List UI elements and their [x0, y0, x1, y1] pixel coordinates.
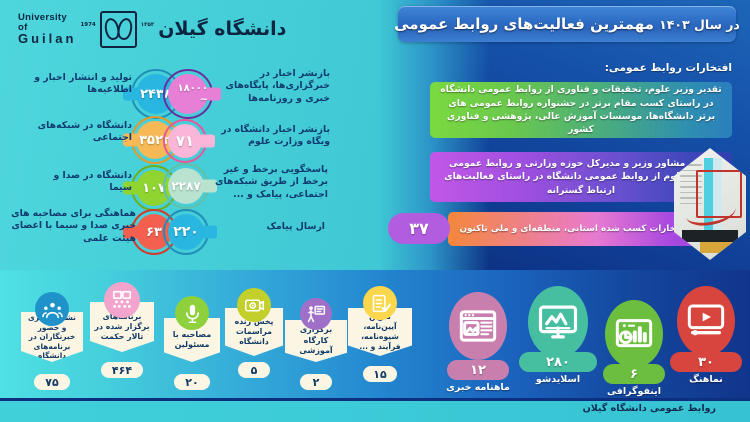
- stat-label: هماهنگی برای مصاحبه های خبری صدا و سیما …: [0, 208, 136, 245]
- page-title-bar: در سال ۱۴۰۳ مهمترین فعالیت‌های روابط عمو…: [398, 6, 736, 42]
- bottom-card-value: ۷۵: [34, 374, 70, 390]
- achievement-bar-1: تقدیر وزیر علوم، تحقیقات و فناوری از روا…: [430, 82, 732, 138]
- bottom-card-label: نماهنگ: [689, 374, 723, 385]
- trophy-base: [682, 230, 738, 242]
- bottom-card-icon-circle: [300, 298, 332, 330]
- logo-year-gregorian: 1974: [80, 22, 95, 28]
- bottom-card-value: ۶: [603, 364, 665, 384]
- bottom-card-value: ۲۰: [174, 374, 210, 390]
- bottom-card-label: ماهنامه خبری: [446, 382, 510, 393]
- stat-value: ۶۳: [146, 225, 162, 240]
- bottom-card-value: ۳۰: [670, 352, 742, 372]
- bottom-card-value: ۲۸۰: [519, 352, 597, 372]
- stat-label: پاسخگویی برخط و غیر برخط از طریق شبکه‌ها…: [202, 164, 328, 201]
- stat-label: تولید و انتشار اخبار و اطلاعیه‌ها: [14, 72, 132, 97]
- bottom-card-value: ۵: [238, 362, 270, 378]
- stat-label: ارسال پیامک: [205, 221, 325, 233]
- bottom-card-icon-circle: [237, 288, 271, 322]
- bottom-card-icon-ellipse: [449, 292, 507, 360]
- microphone-icon: [182, 303, 203, 324]
- bottom-card-value: ۴۶۴: [101, 362, 143, 378]
- infographic-canvas: University of Guilan 1974 ۱۳۵۲ دانشگاه گ…: [0, 0, 750, 422]
- bottom-card-icon-ellipse: [677, 286, 735, 356]
- bottom-card-label: اسلایدشو: [536, 374, 580, 385]
- bottom-card-icon-ellipse: [528, 286, 588, 358]
- university-logo: University of Guilan 1974 ۱۳۵۲ دانشگاه گ…: [18, 8, 208, 50]
- infographic-icon: [614, 314, 654, 354]
- press-conference-icon: [42, 299, 63, 320]
- bottom-card-value: ۱۵: [363, 366, 397, 382]
- logo-persian-text: دانشگاه گیلان: [158, 18, 286, 40]
- achievement-text-1: تقدیر وزیر علوم، تحقیقات و فناوری از روا…: [439, 83, 723, 136]
- logo-english-text: University of Guilan: [18, 13, 76, 45]
- video-play-icon: [686, 301, 726, 341]
- bottom-card-value: ۱۲: [447, 360, 509, 380]
- newsletter-icon: [458, 306, 498, 346]
- stat-value: ۷۱: [176, 132, 194, 150]
- bottom-card-icon-circle: [35, 292, 69, 326]
- stat-label: بازنشر اخبار دانشگاه در وبگاه وزارت علوم: [200, 124, 330, 149]
- logo-year-persian: ۱۳۵۲: [141, 22, 154, 28]
- stat-value: ۲۲۰: [173, 224, 199, 240]
- live-camera-icon: [244, 295, 265, 316]
- stat-badge[interactable]: ۲۲۰: [168, 214, 204, 250]
- stat-label: دانشگاه در صدا و سیما: [32, 170, 132, 195]
- auditorium-icon: [111, 289, 133, 311]
- stat-value: ۲۲۸۷: [171, 179, 200, 193]
- stat-badge[interactable]: ۲۲۸۷: [168, 168, 204, 204]
- achievements-heading: افتخارات روابط عمومی:: [605, 62, 732, 74]
- logo-line-university: University of: [18, 13, 76, 32]
- page-title-year: در سال ۱۴۰۳: [659, 17, 740, 32]
- achievement-summary-value: ۳۷: [388, 213, 450, 244]
- stat-label: دانشگاه در شبکه‌های اجتماعی: [20, 120, 132, 145]
- footer-label: روابط عمومی دانشگاه گیلان: [583, 403, 716, 414]
- bottom-card-icon-circle: [104, 282, 140, 318]
- logo-line-guilan: Guilan: [18, 32, 76, 45]
- bottom-card-label: اینفوگرافی: [607, 386, 661, 397]
- checklist-icon: [370, 293, 391, 314]
- bottom-card-icon-circle: [175, 296, 209, 330]
- stat-label: بازنشر اخبار در خبرگزاری‌ها، پایگاه‌های …: [200, 68, 330, 105]
- bottom-card-value: ۲: [300, 374, 332, 390]
- logo-emblem-icon: [100, 11, 137, 48]
- bottom-card-icon-ellipse: [605, 300, 663, 368]
- bottom-card-icon-circle: [363, 286, 397, 320]
- workshop-icon: [306, 304, 326, 324]
- slideshow-icon: [537, 301, 579, 343]
- stat-badge[interactable]: ۷۱: [168, 124, 202, 158]
- page-title: در سال ۱۴۰۳ مهمترین فعالیت‌های روابط عمو…: [394, 15, 740, 33]
- page-title-main: مهمترین فعالیت‌های روابط عمومی: [394, 15, 654, 33]
- trophy-calligraphy: [685, 197, 737, 227]
